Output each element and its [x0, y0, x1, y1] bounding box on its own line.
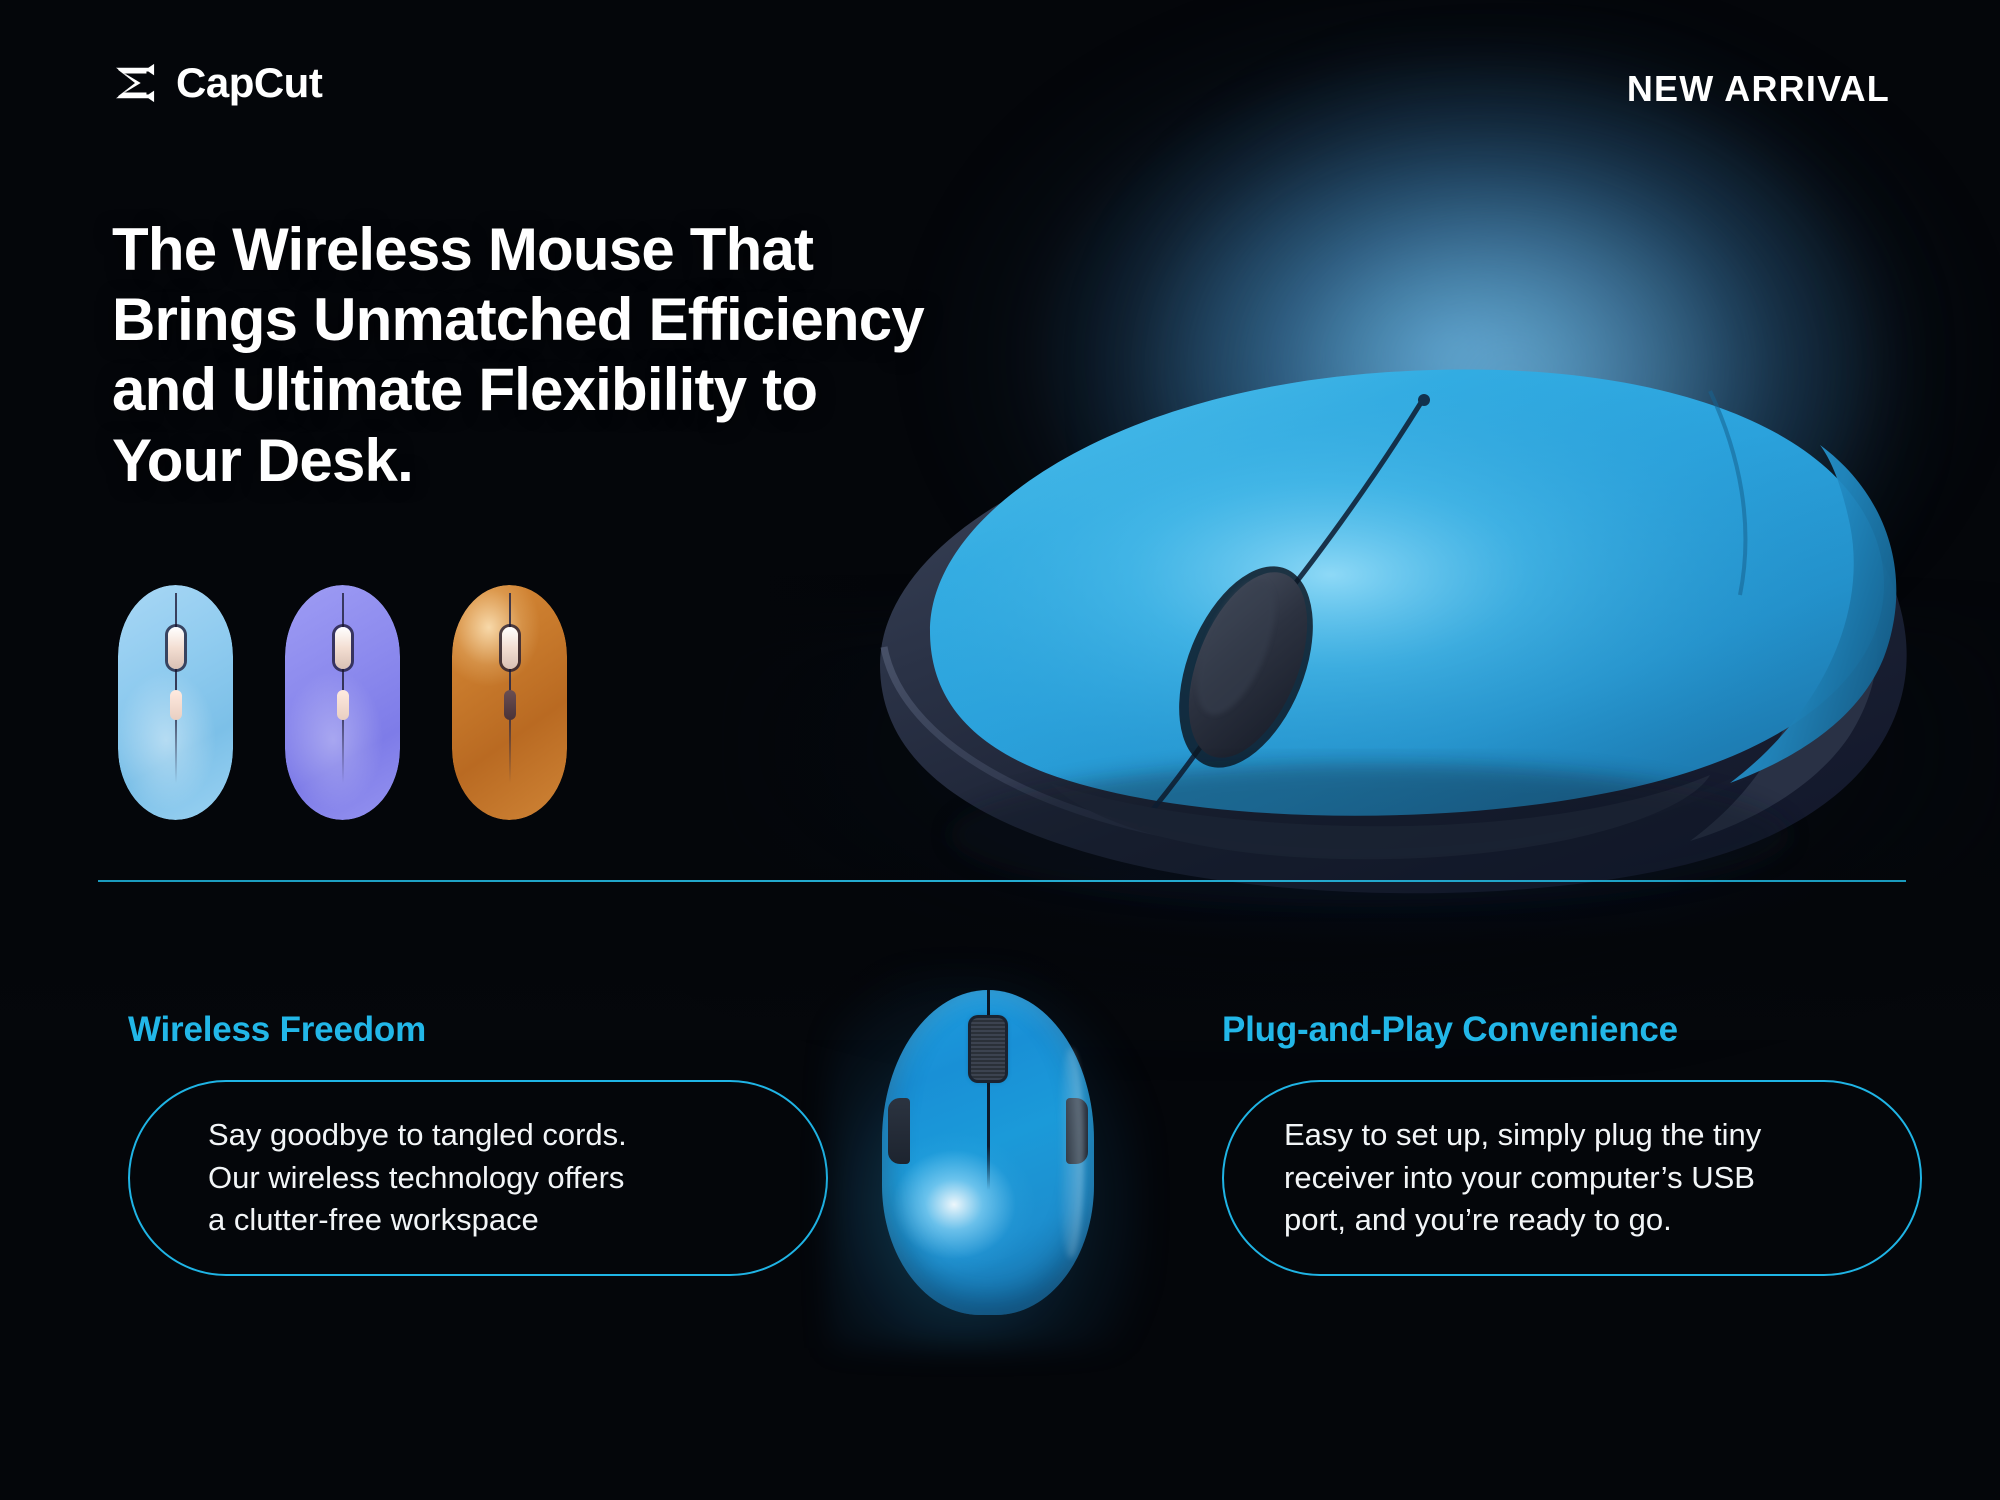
feature-body-line: Easy to set up, simply plug the tiny — [1284, 1114, 1761, 1157]
feature-title: Wireless Freedom — [128, 1010, 828, 1050]
feature-wireless-freedom: Wireless Freedom Say goodbye to tangled … — [128, 1010, 828, 1276]
brand-logo[interactable]: CapCut — [110, 62, 322, 104]
capcut-logo-icon — [110, 62, 160, 104]
new-arrival-badge: NEW ARRIVAL — [1627, 68, 1890, 110]
headline-line: The Wireless Mouse That — [112, 215, 1012, 285]
side-button-left — [888, 1098, 910, 1164]
color-variant-copper-mouse[interactable] — [452, 585, 567, 820]
feature-card: Easy to set up, simply plug the tiny rec… — [1222, 1080, 1922, 1276]
feature-body-line: Say goodbye to tangled cords. — [208, 1114, 627, 1157]
poster-canvas: CapCut NEW ARRIVAL The Wireless Mouse Th… — [0, 0, 2000, 1500]
header: CapCut NEW ARRIVAL — [0, 0, 2000, 150]
mouse-seam — [509, 593, 511, 783]
feature-body: Say goodbye to tangled cords. Our wirele… — [208, 1114, 627, 1242]
scroll-wheel-icon — [168, 627, 184, 669]
feature-card: Say goodbye to tangled cords. Our wirele… — [128, 1080, 828, 1276]
section-divider — [98, 880, 1906, 882]
footer: ORDER NOW +1234-567-890 hello@capcut.com — [0, 1350, 2000, 1500]
headline-line: and Ultimate Flexibility to — [112, 355, 1012, 425]
mouse-seam — [175, 593, 177, 783]
scroll-wheel-icon — [502, 627, 518, 669]
color-variant-light-blue-mouse[interactable] — [118, 585, 233, 820]
page-title: The Wireless Mouse That Brings Unmatched… — [112, 215, 1012, 496]
dpi-button — [337, 690, 349, 720]
shell-rim-highlight — [1058, 1048, 1084, 1258]
feature-body-line: Our wireless technology offers — [208, 1157, 627, 1200]
mouse-seam — [342, 593, 344, 783]
feature-plug-and-play: Plug-and-Play Convenience Easy to set up… — [1222, 1010, 1922, 1276]
scroll-wheel-icon — [971, 1018, 1005, 1080]
dpi-button — [170, 690, 182, 720]
feature-body-line: receiver into your computer’s USB — [1284, 1157, 1761, 1200]
feature-body: Easy to set up, simply plug the tiny rec… — [1284, 1114, 1761, 1242]
feature-body-line: port, and you’re ready to go. — [1284, 1199, 1761, 1242]
feature-body-line: a clutter-free workspace — [208, 1199, 627, 1242]
headline-line: Brings Unmatched Efficiency — [112, 285, 1012, 355]
center-mouse-image — [868, 988, 1108, 1318]
color-variant-list — [118, 585, 567, 820]
center-mouse-shell — [882, 990, 1094, 1315]
color-variant-purple-mouse[interactable] — [285, 585, 400, 820]
brand-name: CapCut — [176, 62, 322, 104]
headline-line: Your Desk. — [112, 426, 1012, 496]
dpi-button — [504, 690, 516, 720]
feature-title: Plug-and-Play Convenience — [1222, 1010, 1922, 1050]
scroll-wheel-icon — [335, 627, 351, 669]
